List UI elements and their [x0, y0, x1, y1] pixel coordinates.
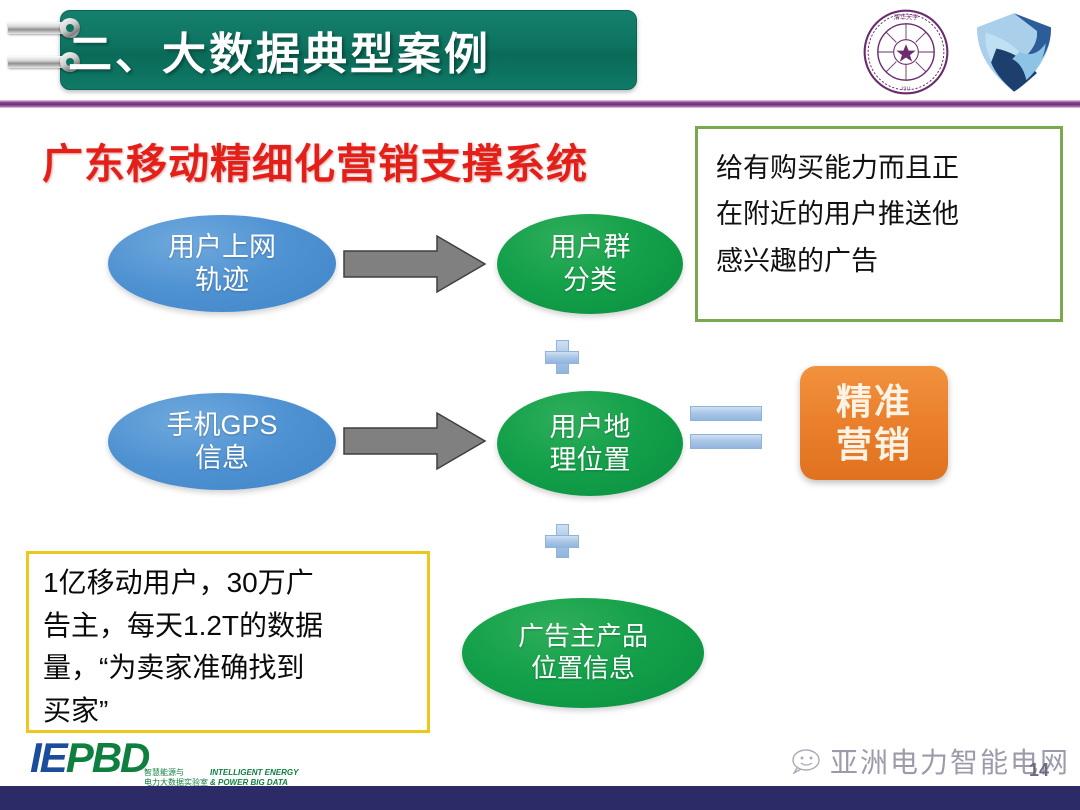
node-user-geo-location: 用户地 理位置: [497, 391, 683, 496]
green-callout-line: 感兴趣的广告: [716, 238, 1046, 284]
iepbd-wordmark-ie: IE: [30, 734, 66, 781]
node-label: 用户地: [550, 411, 631, 444]
yellow-callout-line: 1亿移动用户，30万广: [43, 562, 417, 605]
page-number: 14: [1029, 760, 1049, 781]
chat-bubble-smiley-icon: [790, 748, 824, 774]
section-title: 广东移动精细化营销支撑系统: [42, 130, 588, 190]
iepbd-tagline-cn: 智慧能源与 电力大数据实验室: [144, 768, 208, 788]
yellow-callout-line: 告主，每天1.2T的数据: [43, 605, 417, 648]
slide-content: 广东移动精细化营销支撑系统 给有购买能力而且正 在附近的用户推送他 感兴趣的广告…: [0, 108, 1080, 738]
iepbd-wordmark-pbd: PBD: [66, 734, 149, 781]
green-callout-box: 给有购买能力而且正 在附近的用户推送他 感兴趣的广告: [695, 126, 1063, 322]
node-label: 手机GPS: [166, 409, 277, 442]
plus-operator-icon: [545, 340, 579, 374]
node-label: 理位置: [550, 444, 631, 477]
watermark: 亚洲电力智能电网: [790, 740, 1070, 782]
node-user-group-classification: 用户群 分类: [497, 214, 683, 314]
blue-shield-logo-icon: [968, 8, 1060, 96]
svg-text:清华大学: 清华大学: [894, 13, 919, 21]
plus-operator-icon: [545, 524, 579, 558]
node-label: 广告主产品: [518, 621, 648, 653]
node-label: 用户群: [550, 231, 631, 264]
page-title: 二、大数据典型案例: [68, 18, 491, 82]
slide: 二、大数据典型案例 清华大学 1911: [0, 0, 1080, 810]
tsinghua-university-seal-icon: 清华大学 1911: [862, 8, 950, 96]
iepbd-logo: IEPBD 智慧能源与 电力大数据实验室 INTELLIGENT ENERGY …: [14, 734, 314, 790]
node-advertiser-product-location: 广告主产品 位置信息: [462, 598, 704, 708]
iepbd-tagline-cn-line: 智慧能源与: [144, 768, 208, 778]
yellow-callout-line: 买家”: [43, 690, 417, 733]
node-label: 分类: [550, 264, 631, 297]
iepbd-tagline-en-line: INTELLIGENT ENERGY: [210, 768, 298, 778]
yellow-callout-line: 量，“为卖家准确找到: [43, 647, 417, 690]
svg-text:1911: 1911: [901, 86, 912, 92]
slide-header: 二、大数据典型案例 清华大学 1911: [0, 0, 1080, 100]
node-label: 位置信息: [518, 653, 648, 685]
slide-footer: IEPBD 智慧能源与 电力大数据实验室 INTELLIGENT ENERGY …: [0, 738, 1080, 810]
header-divider: [0, 100, 1080, 108]
equals-operator-icon: [690, 406, 762, 450]
yellow-callout-box: 1亿移动用户，30万广 告主，每天1.2T的数据 量，“为卖家准确找到 买家”: [26, 551, 430, 733]
node-label: 用户上网: [168, 231, 276, 264]
node-label: 轨迹: [168, 264, 276, 297]
node-mobile-gps-info: 手机GPS 信息: [108, 393, 336, 490]
iepbd-wordmark: IEPBD: [30, 734, 148, 782]
right-arrow-icon: [342, 410, 487, 472]
result-box-precision-marketing: 精准 营销: [800, 366, 948, 480]
green-callout-line: 在附近的用户推送他: [716, 191, 1046, 237]
footer-bar: [0, 786, 1080, 810]
node-label: 信息: [166, 442, 277, 475]
iepbd-tagline-en: INTELLIGENT ENERGY & POWER BIG DATA: [210, 768, 298, 788]
node-user-web-trace: 用户上网 轨迹: [108, 215, 336, 312]
result-label: 精准: [836, 380, 912, 423]
green-callout-line: 给有购买能力而且正: [716, 145, 1046, 191]
result-label: 营销: [836, 423, 912, 466]
right-arrow-icon: [342, 233, 487, 295]
